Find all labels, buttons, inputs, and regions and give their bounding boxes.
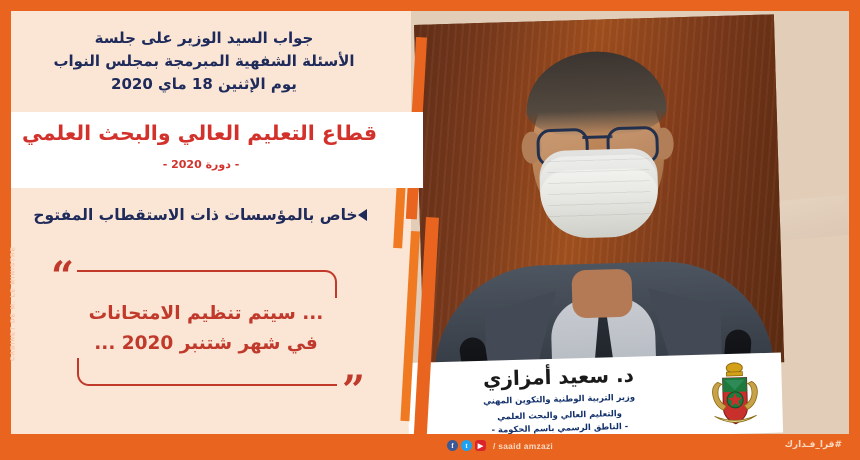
session-year-label: - دورة 2020 - [25, 158, 377, 171]
sector-heading: قطاع التعليم العالي والبحث العلمي [25, 121, 377, 145]
morocco-coat-of-arms-icon [701, 359, 769, 431]
subtitle-text: خاص بالمؤسسات ذات الاستقطاب المفتوح [33, 206, 357, 224]
quote-rail-bottom [77, 358, 337, 386]
quote-line-2: في شهر شتنبر 2020 ... [59, 329, 353, 359]
minister-photo [414, 14, 784, 373]
minister-name-card: د. سعيد أمزازي وزير التربية الوطنية والت… [407, 353, 783, 434]
figure-face-mask [539, 148, 660, 239]
quote-text: ... سيتم تنظيم الامتحانات في شهر شتنبر 2… [59, 299, 353, 359]
twitter-icon[interactable]: t [461, 440, 472, 451]
minister-name: د. سعيد أمزازي [421, 361, 696, 394]
subtitle-open-access: خاص بالمؤسسات ذات الاستقطاب المفتوح [25, 206, 381, 224]
quote-line-1: ... سيتم تنظيم الامتحانات [59, 299, 353, 329]
header-title-line-2: الأسئلة الشفهية المبرمجة بمجلس النواب [31, 50, 377, 73]
cabinet-vertical-label: CABINET DE M. LE MINISTRE [10, 229, 17, 379]
social-handle[interactable]: / saaid amzazi [493, 441, 553, 451]
quote-block: “ ” ... سيتم تنظيم الامتحانات في شهر شتن… [49, 263, 367, 393]
facebook-icon[interactable]: f [447, 440, 458, 451]
photo-backdrop [414, 14, 784, 373]
triangle-left-icon [358, 209, 367, 221]
poster-root: د. سعيد أمزازي وزير التربية الوطنية والت… [0, 0, 860, 460]
quote-rail-top [77, 270, 337, 298]
figure-neck [571, 269, 632, 319]
quote-close-mark: ” [342, 371, 365, 411]
header-title-line-1: جواب السيد الوزير على جلسة [31, 27, 377, 50]
left-content-column: جواب السيد الوزير على جلسة الأسئلة الشفه… [11, 11, 411, 434]
header-title: جواب السيد الوزير على جلسة الأسئلة الشفه… [31, 27, 377, 95]
poster-canvas: د. سعيد أمزازي وزير التربية الوطنية والت… [11, 11, 849, 434]
youtube-icon[interactable]: ▶ [475, 440, 486, 451]
header-title-line-3: يوم الإثنين 18 ماي 2020 [31, 73, 377, 96]
campaign-hashtag: #قرا_فـدارك [785, 440, 842, 450]
left-orange-strip: CABINET DE M. LE MINISTRE [0, 0, 11, 460]
footer-bar: f t ▶ / saaid amzazi #قرا_فـدارك [0, 434, 860, 460]
quote-open-mark: “ [51, 257, 74, 297]
social-links[interactable]: f t ▶ / saaid amzazi [447, 440, 553, 451]
